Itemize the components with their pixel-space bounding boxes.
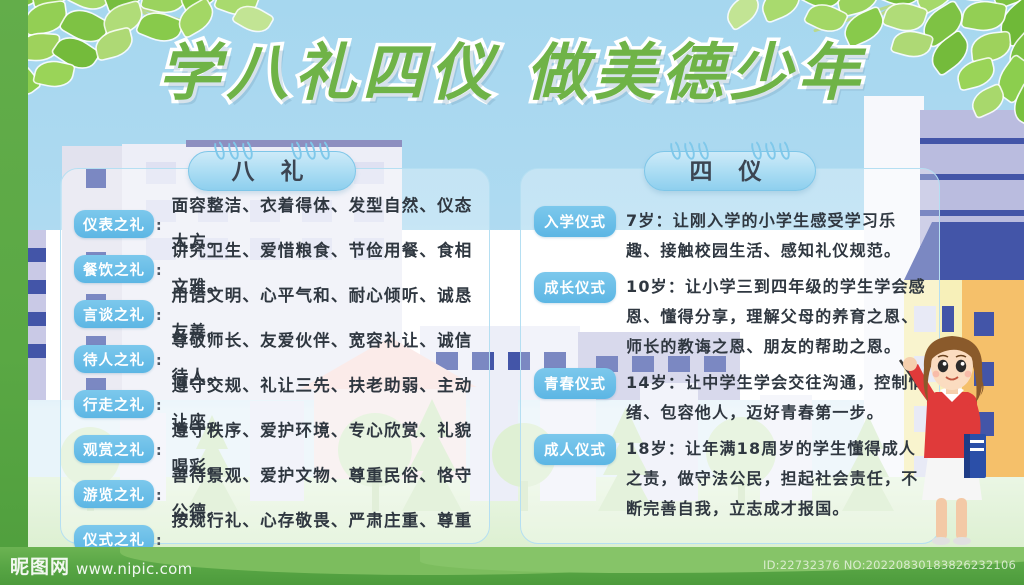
binding-rings-icon [752, 140, 789, 160]
item-colon: : [154, 484, 162, 504]
heading-ba-li-label: 八 礼 [231, 159, 312, 185]
item-colon: : [154, 529, 162, 549]
item-colon: : [154, 439, 162, 459]
poster-canvas: 学八礼四仪 做美德少年 八 礼 四 仪 仪表之礼 : 面容整洁、衣着得体、发型自… [0, 0, 1024, 585]
watermark-url: www.nipic.com [76, 560, 193, 579]
watermark-brand: 昵图网 www.nipic.com [10, 552, 193, 579]
list-item: 成长仪式 10岁：让小学三到四年级的学生学会感恩、懂得分享，理解父母的养育之恩、… [534, 272, 926, 362]
item-tag: 观赏之礼 [74, 435, 154, 463]
teacher-illustration [892, 330, 1012, 545]
item-colon: : [154, 394, 162, 414]
item-text: 10岁：让小学三到四年级的学生学会感恩、懂得分享，理解父母的养育之恩、师长的教诲… [616, 272, 926, 362]
item-tag: 青春仪式 [534, 368, 616, 399]
item-tag: 餐饮之礼 [74, 255, 154, 283]
item-tag: 游览之礼 [74, 480, 154, 508]
watermark-logo: 昵图网 [10, 552, 70, 579]
item-text: 14岁：让中学生学会交往沟通，控制情绪、包容他人，迈好青春第一步。 [616, 368, 926, 428]
item-tag: 言谈之礼 [74, 300, 154, 328]
item-tag: 入学仪式 [534, 206, 616, 237]
item-colon: : [154, 304, 162, 324]
heading-si-yi-label: 四 仪 [689, 159, 770, 185]
list-item: 入学仪式 7岁：让刚入学的小学生感受学习乐趣、接触校园生活、感知礼仪规范。 [534, 206, 926, 266]
heading-si-yi: 四 仪 [644, 151, 816, 191]
list-item: 青春仪式 14岁：让中学生学会交往沟通，控制情绪、包容他人，迈好青春第一步。 [534, 368, 926, 428]
item-tag: 成人仪式 [534, 434, 616, 465]
item-colon: : [154, 349, 162, 369]
item-colon: : [154, 259, 162, 279]
binding-rings-icon [292, 140, 329, 160]
heading-ba-li: 八 礼 [188, 151, 356, 191]
binding-rings-icon [215, 140, 252, 160]
item-tag: 仪表之礼 [74, 210, 154, 238]
item-colon: : [154, 214, 162, 234]
building-roof [932, 222, 1024, 280]
watermark-id: ID:22732376 NO:20220830183826232106 [763, 558, 1016, 572]
ba-li-list: 仪表之礼 : 面容整洁、衣着得体、发型自然、仪态大方。 餐饮之礼 : 讲究卫生、… [74, 206, 474, 566]
item-text: 18岁：让年满18周岁的学生懂得成人之责，做守法公民，担起社会责任，不断完善自我… [616, 434, 926, 524]
si-yi-list: 入学仪式 7岁：让刚入学的小学生感受学习乐趣、接触校园生活、感知礼仪规范。 成长… [534, 206, 926, 530]
frame-left-edge [0, 0, 28, 585]
item-tag: 成长仪式 [534, 272, 616, 303]
list-item: 成人仪式 18岁：让年满18周岁的学生懂得成人之责，做守法公民，担起社会责任，不… [534, 434, 926, 524]
item-tag: 待人之礼 [74, 345, 154, 373]
binding-rings-icon [671, 140, 708, 160]
poster-title: 学八礼四仪 做美德少年 [0, 34, 1024, 112]
item-text: 7岁：让刚入学的小学生感受学习乐趣、接触校园生活、感知礼仪规范。 [616, 206, 926, 266]
item-tag: 行走之礼 [74, 390, 154, 418]
